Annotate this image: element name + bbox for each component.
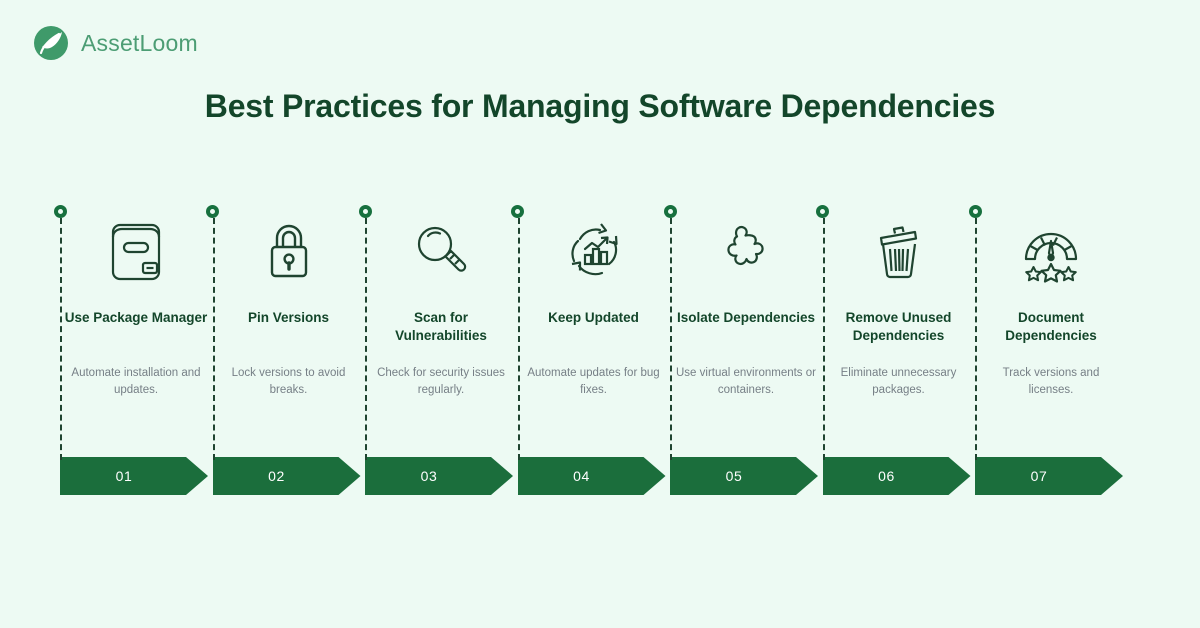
step-title: Remove Unused Dependencies — [827, 309, 971, 345]
step-number: 07 — [1031, 468, 1048, 484]
timeline-dot-icon — [359, 205, 372, 218]
step-number-badge: 01 — [60, 457, 208, 495]
step-title: Pin Versions — [217, 309, 361, 327]
magnifying-glass-icon — [365, 213, 518, 291]
timeline-dot-icon — [206, 205, 219, 218]
timeline-dashed-line — [213, 218, 215, 460]
timeline-step-01: Use Package Manager Automate installatio… — [60, 205, 213, 495]
timeline-dashed-line — [518, 218, 520, 460]
timeline-dashed-line — [823, 218, 825, 460]
padlock-icon — [213, 213, 366, 291]
gauge-stars-icon — [975, 213, 1128, 291]
step-description: Track versions and licenses. — [979, 365, 1123, 400]
timeline-dashed-line — [670, 218, 672, 460]
timeline-dot-icon — [969, 205, 982, 218]
timeline-step-07: Document Dependencies Track versions and… — [975, 205, 1128, 495]
timeline-step-02: Pin Versions Lock versions to avoid brea… — [213, 205, 366, 495]
step-title: Use Package Manager — [64, 309, 208, 327]
step-number: 03 — [421, 468, 438, 484]
timeline-dashed-line — [975, 218, 977, 460]
step-description: Use virtual environments or containers. — [674, 365, 818, 400]
timeline-dashed-line — [365, 218, 367, 460]
timeline-dot-icon — [511, 205, 524, 218]
brand-logo: AssetLoom — [32, 24, 198, 62]
step-description: Check for security issues regularly. — [369, 365, 513, 400]
step-number: 04 — [573, 468, 590, 484]
puzzle-piece-icon — [670, 213, 823, 291]
step-number-badge: 06 — [823, 457, 971, 495]
timeline-step-03: Scan for Vulnerabilities Check for secur… — [365, 205, 518, 495]
brand-name: AssetLoom — [81, 30, 198, 57]
step-number: 05 — [726, 468, 743, 484]
timeline-step-06: Remove Unused Dependencies Eliminate unn… — [823, 205, 976, 495]
timeline-dot-icon — [54, 205, 67, 218]
step-description: Lock versions to avoid breaks. — [217, 365, 361, 400]
step-number: 02 — [268, 468, 285, 484]
step-title: Isolate Dependencies — [674, 309, 818, 327]
step-number: 01 — [116, 468, 133, 484]
step-title: Scan for Vulnerabilities — [369, 309, 513, 345]
timeline-dashed-line — [60, 218, 62, 460]
timeline-step-04: Keep Updated Automate updates for bug fi… — [518, 205, 671, 495]
timeline: Use Package Manager Automate installatio… — [60, 205, 1140, 495]
timeline-step-05: Isolate Dependencies Use virtual environ… — [670, 205, 823, 495]
step-title: Document Dependencies — [979, 309, 1123, 345]
step-number-badge: 02 — [213, 457, 361, 495]
timeline-dot-icon — [664, 205, 677, 218]
refresh-chart-icon — [518, 213, 671, 291]
step-number: 06 — [878, 468, 895, 484]
step-description: Automate updates for bug fixes. — [522, 365, 666, 400]
step-title: Keep Updated — [522, 309, 666, 327]
step-number-badge: 04 — [518, 457, 666, 495]
step-number-badge: 03 — [365, 457, 513, 495]
package-box-icon — [60, 213, 213, 291]
leaf-circle-logo-icon — [32, 24, 70, 62]
step-description: Eliminate unnecessary packages. — [827, 365, 971, 400]
timeline-dot-icon — [816, 205, 829, 218]
step-number-badge: 07 — [975, 457, 1123, 495]
trash-can-icon — [823, 213, 976, 291]
page-title: Best Practices for Managing Software Dep… — [0, 88, 1200, 125]
step-description: Automate installation and updates. — [64, 365, 208, 400]
step-number-badge: 05 — [670, 457, 818, 495]
